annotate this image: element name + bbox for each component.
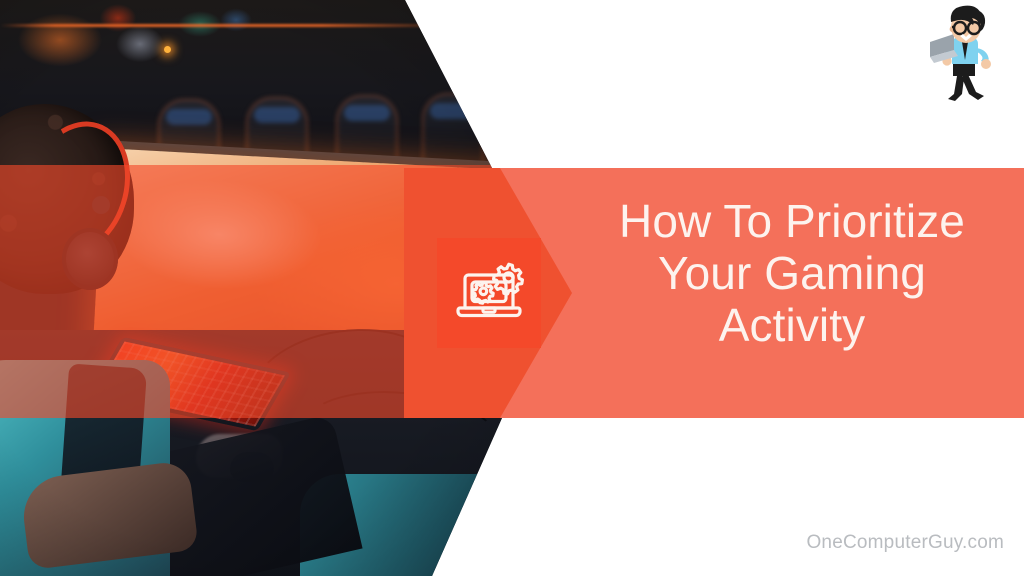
banner-title-line-2: Your Gaming <box>580 248 1004 300</box>
mascot-illustration <box>914 4 1010 104</box>
banner-title-line-1: How To Prioritize <box>580 196 1004 248</box>
laptop-gears-icon <box>451 255 527 331</box>
onecomputerguy-mascot-logo[interactable] <box>914 4 1010 104</box>
mascot-trousers <box>953 64 975 76</box>
banner-title-line-3: Activity <box>580 300 1004 352</box>
mascot-right-hand <box>981 59 991 69</box>
banner-title: How To Prioritize Your Gaming Activity <box>580 196 1004 352</box>
laptop-gears-icon-badge <box>437 238 541 348</box>
footer-brand[interactable]: OneComputerGuy.com <box>806 532 1004 554</box>
blog-header-banner: How To Prioritize Your Gaming Activity <box>0 0 1024 576</box>
